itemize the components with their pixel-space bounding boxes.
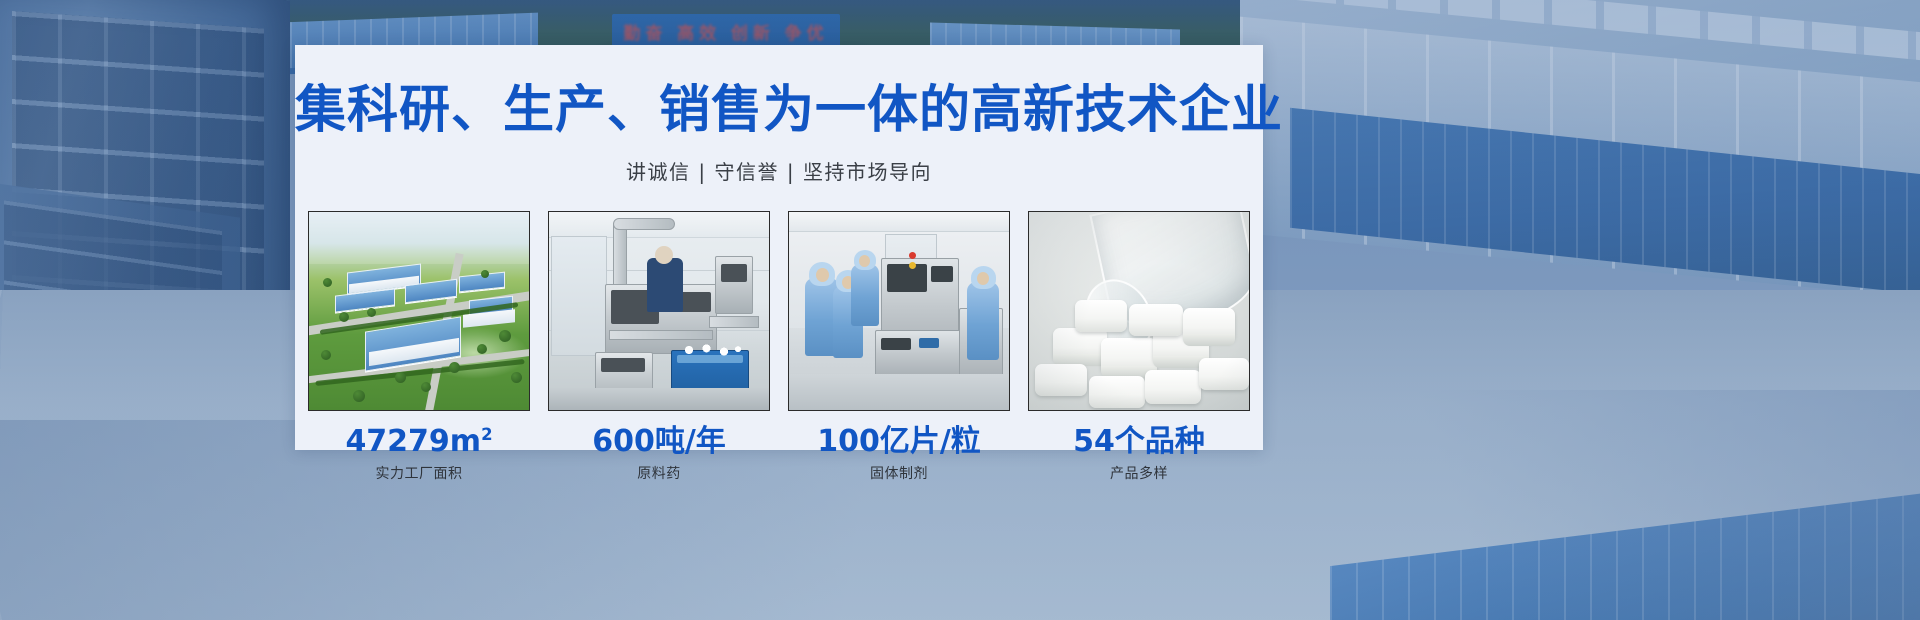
stat-card[interactable]: 100亿片/粒 固体制剂 <box>788 211 1010 483</box>
stat-card[interactable]: 600吨/年 原料药 <box>548 211 770 483</box>
content-panel: 集科研、生产、销售为一体的高新技术企业 讲诚信 | 守信誉 | 坚持市场导向 <box>295 45 1263 450</box>
aerial-factory-campus-photo <box>308 211 530 411</box>
stat-value-main: 54个品种 <box>1073 424 1205 459</box>
page-subtitle: 讲诚信 | 守信誉 | 坚持市场导向 <box>295 136 1263 185</box>
stat-card[interactable]: 47279m2 实力工厂面积 <box>308 211 530 483</box>
stat-value-main: 600吨/年 <box>592 424 726 459</box>
page-title: 集科研、生产、销售为一体的高新技术企业 <box>295 45 1263 136</box>
stat-value: 600吨/年 <box>548 411 770 461</box>
stat-value-superscript: 2 <box>481 425 492 444</box>
stat-label: 实力工厂面积 <box>308 461 530 483</box>
stat-value-main: 47279m <box>345 424 481 459</box>
stat-value: 100亿片/粒 <box>788 411 1010 461</box>
cleanroom-workers-photo <box>788 211 1010 411</box>
stat-value: 54个品种 <box>1028 411 1250 461</box>
stat-label: 产品多样 <box>1028 461 1250 483</box>
packaging-machine-photo <box>548 211 770 411</box>
stat-value: 47279m2 <box>308 411 530 461</box>
stat-value-main: 100亿片/粒 <box>817 424 981 459</box>
stat-label: 原料药 <box>548 461 770 483</box>
white-tablets-photo <box>1028 211 1250 411</box>
stat-card[interactable]: 54个品种 产品多样 <box>1028 211 1250 483</box>
stats-card-list: 47279m2 实力工厂面积 <box>295 185 1263 483</box>
stat-label: 固体制剂 <box>788 461 1010 483</box>
